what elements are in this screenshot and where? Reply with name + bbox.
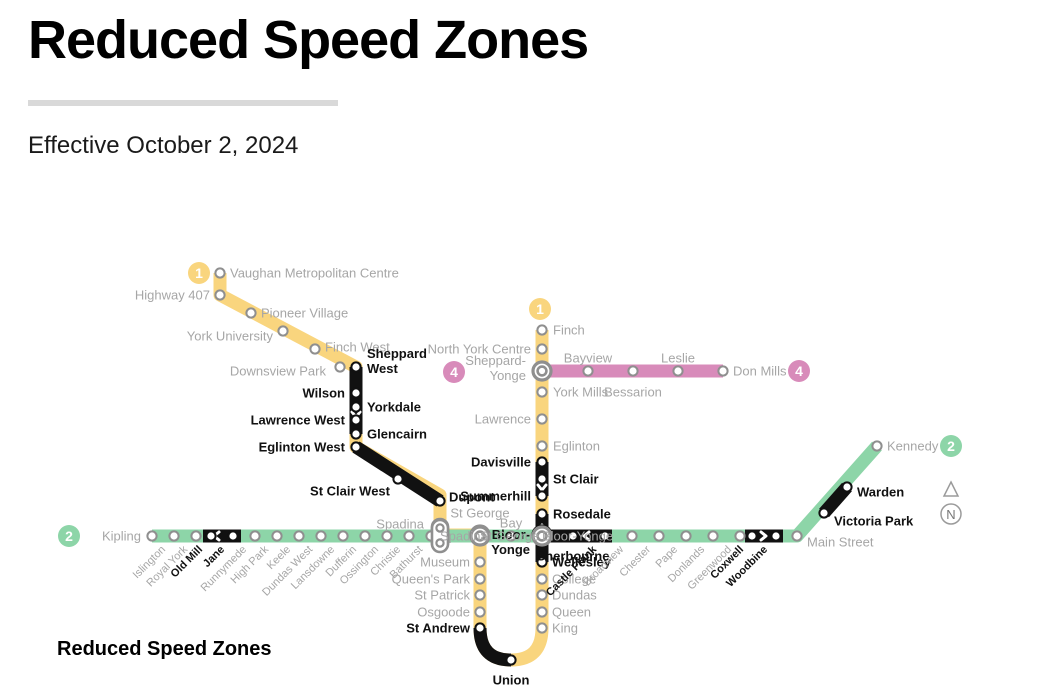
station-marker-eglinton-west[interactable] xyxy=(351,442,360,451)
station-label-sheppard-yonge: Sheppard-Yonge xyxy=(465,353,526,383)
title-divider xyxy=(28,100,338,106)
station-label-summerhill: Summerhill xyxy=(460,489,531,504)
station-label-sheppard-west: SheppardWest xyxy=(367,346,427,376)
station-dot xyxy=(537,623,546,632)
station-dot xyxy=(169,531,178,540)
station-marker-islington[interactable] xyxy=(169,531,178,540)
station-dot xyxy=(537,474,546,483)
station-dot xyxy=(537,387,546,396)
station-marker-jane[interactable] xyxy=(228,531,237,540)
station-label-text: Yonge xyxy=(491,542,530,557)
station-label-text: Kipling xyxy=(102,529,141,544)
station-marker-warden[interactable] xyxy=(842,482,851,491)
station-marker-finch-west[interactable] xyxy=(310,344,319,353)
line-2-bullet-kipling[interactable]: 2 xyxy=(58,525,80,547)
station-label-text: St Clair West xyxy=(310,484,391,499)
station-dot xyxy=(338,531,347,540)
station-marker-college[interactable] xyxy=(537,574,546,583)
station-dot xyxy=(735,531,744,540)
station-marker-lansdowne[interactable] xyxy=(338,531,347,540)
station-label-text: Lawrence xyxy=(475,412,531,427)
station-label-don-mills: Don Mills xyxy=(733,364,787,379)
station-dot xyxy=(872,441,881,450)
station-dot xyxy=(842,482,851,491)
station-dot xyxy=(537,344,546,353)
station-dot xyxy=(335,362,344,371)
direction-chevrons xyxy=(214,412,766,540)
station-dot xyxy=(272,531,281,540)
station-label-text: Lawrence West xyxy=(251,413,346,428)
station-marker-victoria-park[interactable] xyxy=(819,508,828,517)
station-label-union: Union xyxy=(493,673,530,688)
station-label-text: St Clair xyxy=(553,472,599,487)
station-dot xyxy=(506,655,515,664)
station-marker-glencairn[interactable] xyxy=(351,429,360,438)
station-label-st-clair: St Clair xyxy=(553,472,599,487)
station-marker-broadview[interactable] xyxy=(627,531,636,540)
station-label-vaughan-metropolitan-centre: Vaughan Metropolitan Centre xyxy=(230,266,399,281)
station-marker-highway-407[interactable] xyxy=(215,290,224,299)
station-label-text: Wilson xyxy=(303,386,346,401)
station-dot xyxy=(351,362,360,371)
station-label-downsview-park: Downsview Park xyxy=(230,364,327,379)
station-dot xyxy=(627,531,636,540)
station-marker-queen[interactable] xyxy=(537,607,546,616)
station-label-text: Eglinton xyxy=(553,439,600,454)
station-dot xyxy=(537,607,546,616)
station-marker-lawrence[interactable] xyxy=(537,414,546,423)
station-label-bloor-yonge: Bloor-Yonge xyxy=(542,529,613,544)
station-label-york-university: York University xyxy=(187,329,274,344)
station-marker-old-mill[interactable] xyxy=(206,531,215,540)
station-label-text: St George xyxy=(480,529,539,544)
station-label-kennedy: Kennedy xyxy=(887,439,939,454)
station-marker-museum[interactable] xyxy=(475,557,484,566)
station-label-davisville: Davisville xyxy=(471,455,531,470)
station-dot xyxy=(250,531,259,540)
station-label-rosedale: Rosedale xyxy=(553,507,611,522)
station-marker-finch[interactable] xyxy=(537,325,546,334)
station-dot xyxy=(475,574,484,583)
line-1-bullet-vaughan[interactable]: 1 xyxy=(188,262,210,284)
station-labels: Vaughan Metropolitan CentreHighway 407Pi… xyxy=(102,266,939,688)
station-marker-eglinton[interactable] xyxy=(537,441,546,450)
station-label-text: Osgoode xyxy=(417,605,470,620)
station-marker-york-university[interactable] xyxy=(278,326,287,335)
station-label-st-patrick: St Patrick xyxy=(414,588,470,603)
station-marker-don-mills[interactable] xyxy=(718,366,727,375)
station-label-text: Davisville xyxy=(471,455,531,470)
station-marker-queen-s-park[interactable] xyxy=(475,574,484,583)
station-dot xyxy=(360,531,369,540)
line-bullet-number: 2 xyxy=(947,438,955,454)
station-marker-york-mills[interactable] xyxy=(537,387,546,396)
station-dot xyxy=(351,429,360,438)
station-marker-pape[interactable] xyxy=(681,531,690,540)
station-label-text: Pioneer Village xyxy=(261,306,348,321)
station-dot xyxy=(382,531,391,540)
station-label-text: Finch xyxy=(553,323,585,338)
station-marker-st-patrick[interactable] xyxy=(475,590,484,599)
station-label-text: Yorkdale xyxy=(367,400,421,415)
interchange-inner-ring xyxy=(538,367,547,376)
station-dot xyxy=(475,557,484,566)
station-label-text: Warden xyxy=(857,485,904,500)
station-marker-donlands[interactable] xyxy=(708,531,717,540)
station-dot xyxy=(537,574,546,583)
station-label-text: West xyxy=(367,361,398,376)
station-label-text: York University xyxy=(187,329,274,344)
station-dot xyxy=(747,531,756,540)
station-label-st-clair-west: St Clair West xyxy=(310,484,391,499)
station-marker-coxwell[interactable] xyxy=(747,531,756,540)
line-bullet-number: 2 xyxy=(65,528,73,544)
station-marker-osgoode[interactable] xyxy=(475,607,484,616)
station-marker-davisville[interactable] xyxy=(537,457,546,466)
station-marker-chester[interactable] xyxy=(654,531,663,540)
station-label-st-george: St George xyxy=(480,529,539,544)
compass: N xyxy=(941,482,961,524)
station-dot xyxy=(628,366,637,375)
subway-map-svg: Vaughan Metropolitan CentreHighway 407Pi… xyxy=(0,190,1056,694)
station-dot xyxy=(351,415,360,424)
station-label-text: Union xyxy=(493,673,530,688)
station-label-text: Queen xyxy=(552,605,591,620)
station-label-lawrence: Lawrence xyxy=(475,412,531,427)
station-label-text: Summerhill xyxy=(460,489,531,504)
station-marker-christie[interactable] xyxy=(404,531,413,540)
station-marker-ossington[interactable] xyxy=(382,531,391,540)
station-dot xyxy=(708,531,717,540)
station-label-highway-407: Highway 407 xyxy=(135,288,210,303)
station-label-bay: Bay xyxy=(500,516,523,531)
station-label-text: St Andrew xyxy=(406,621,471,636)
station-label-text: Rosedale xyxy=(553,507,611,522)
station-label-leslie: Leslie xyxy=(661,351,695,366)
station-label-text: Victoria Park xyxy=(834,514,914,529)
station-label-yorkdale: Yorkdale xyxy=(367,400,421,415)
station-marker-st-clair[interactable] xyxy=(537,474,546,483)
station-label-warden: Warden xyxy=(857,485,904,500)
station-marker-bessarion[interactable] xyxy=(628,366,637,375)
station-label-text: Bloor-Yonge xyxy=(542,529,613,544)
station-label-text: Sheppard xyxy=(367,346,427,361)
station-dot xyxy=(191,531,200,540)
station-dot xyxy=(228,531,237,540)
station-marker-runnymede[interactable] xyxy=(250,531,259,540)
station-dot xyxy=(537,441,546,450)
station-dot xyxy=(404,531,413,540)
page-title: Reduced Speed Zones xyxy=(28,12,588,69)
station-dot xyxy=(673,366,682,375)
station-label-text: King xyxy=(552,621,578,636)
line-4-bullet-don-mills[interactable]: 4 xyxy=(788,360,810,382)
station-label-glencairn: Glencairn xyxy=(367,427,427,442)
station-label-victoria-park: Victoria Park xyxy=(834,514,914,529)
station-label-text: Bay xyxy=(500,516,523,531)
station-label-text: Main Street xyxy=(807,535,874,550)
station-label-text: Downsview Park xyxy=(230,364,327,379)
station-dot xyxy=(215,268,224,277)
station-label-wilson: Wilson xyxy=(303,386,346,401)
station-dot xyxy=(475,590,484,599)
station-label-pioneer-village: Pioneer Village xyxy=(261,306,348,321)
station-marker-leslie[interactable] xyxy=(673,366,682,375)
station-marker-wilson[interactable] xyxy=(351,388,360,397)
station-marker-keele[interactable] xyxy=(294,531,303,540)
station-label-eglinton-west: Eglinton West xyxy=(259,440,346,455)
station-marker-lawrence-west[interactable] xyxy=(351,415,360,424)
station-label-osgoode: Osgoode xyxy=(417,605,470,620)
station-dot xyxy=(792,531,801,540)
compass-north-letter: N xyxy=(946,507,955,522)
station-dot xyxy=(393,474,402,483)
station-marker-north-york-centre[interactable] xyxy=(537,344,546,353)
station-label-queen: Queen xyxy=(552,605,591,620)
station-label-lawrence-west: Lawrence West xyxy=(251,413,346,428)
station-label-text: York Mills xyxy=(553,385,609,400)
station-marker-dufferin[interactable] xyxy=(360,531,369,540)
station-label-text: Vaughan Metropolitan Centre xyxy=(230,266,399,281)
station-label-finch: Finch xyxy=(553,323,585,338)
station-label-main-street: Main Street xyxy=(807,535,874,550)
station-marker-main-street[interactable] xyxy=(792,531,801,540)
subway-map: Vaughan Metropolitan CentreHighway 407Pi… xyxy=(0,190,1056,694)
station-marker-union[interactable] xyxy=(506,655,515,664)
station-label-king: King xyxy=(552,621,578,636)
station-dot xyxy=(351,442,360,451)
station-label-eglinton: Eglinton xyxy=(553,439,600,454)
station-label-text: Yonge xyxy=(490,368,526,383)
station-dot xyxy=(351,402,360,411)
station-marker-st-andrew[interactable] xyxy=(475,623,484,632)
station-label-bayview: Bayview xyxy=(564,351,613,366)
station-label-st-andrew: St Andrew xyxy=(406,621,471,636)
station-dot xyxy=(537,509,546,518)
station-dot xyxy=(537,457,546,466)
station-label-text: Bessarion xyxy=(604,385,662,400)
station-marker-royal-york[interactable] xyxy=(191,531,200,540)
station-label-york-mills: York Mills xyxy=(553,385,609,400)
north-arrow-icon xyxy=(944,482,958,496)
station-label-text: Eglinton West xyxy=(259,440,346,455)
station-label-text: Don Mills xyxy=(733,364,787,379)
station-marker-dundas-west[interactable] xyxy=(316,531,325,540)
station-marker-downsview-park[interactable] xyxy=(335,362,344,371)
station-dot xyxy=(435,496,444,505)
station-label-bessarion: Bessarion xyxy=(604,385,662,400)
station-label-text: Glencairn xyxy=(367,427,427,442)
line-1-bullet-finch[interactable]: 1 xyxy=(529,298,551,320)
station-marker-yorkdale[interactable] xyxy=(351,402,360,411)
station-label-text: Highway 407 xyxy=(135,288,210,303)
station-dot xyxy=(771,531,780,540)
station-dot xyxy=(537,414,546,423)
station-marker-vaughan-metropolitan-centre[interactable] xyxy=(215,268,224,277)
station-marker-kipling[interactable] xyxy=(147,531,156,540)
station-label-text: Spadina xyxy=(376,517,424,532)
line-bullet-number: 1 xyxy=(536,301,544,317)
station-label-text: North York Centre xyxy=(428,342,531,357)
station-dot xyxy=(147,531,156,540)
station-label-text: St Patrick xyxy=(414,588,470,603)
station-dot xyxy=(316,531,325,540)
station-dot xyxy=(537,325,546,334)
station-marker-sheppard-yonge[interactable] xyxy=(533,362,551,380)
station-dot xyxy=(537,491,546,500)
line-2-bullet-kennedy[interactable]: 2 xyxy=(940,435,962,457)
station-marker-woodbine[interactable] xyxy=(771,531,780,540)
station-marker-high-park[interactable] xyxy=(272,531,281,540)
station-dot xyxy=(583,366,592,375)
line-bullet-number: 1 xyxy=(195,265,203,281)
station-dot xyxy=(310,344,319,353)
station-label-museum: Museum xyxy=(420,555,470,570)
station-marker-summerhill[interactable] xyxy=(537,491,546,500)
station-dot xyxy=(294,531,303,540)
station-label-text: Kennedy xyxy=(887,439,939,454)
station-label-text: Bayview xyxy=(564,351,613,366)
station-label-spadina: Spadina xyxy=(376,517,424,532)
station-marker-rosedale[interactable] xyxy=(537,509,546,518)
station-label-text: Leslie xyxy=(661,351,695,366)
station-dot xyxy=(819,508,828,517)
station-label-north-york-centre: North York Centre xyxy=(428,342,531,357)
line-bullet-number: 4 xyxy=(795,363,803,379)
station-dot xyxy=(351,388,360,397)
station-dot xyxy=(681,531,690,540)
station-marker-king[interactable] xyxy=(537,623,546,632)
station-marker-st-clair-west[interactable] xyxy=(393,474,402,483)
page-subtitle: Effective October 2, 2024 xyxy=(28,132,298,160)
station-dot xyxy=(215,290,224,299)
station-marker-dupont[interactable] xyxy=(435,496,444,505)
station-dot xyxy=(246,308,255,317)
line-bullet-number: 4 xyxy=(450,364,458,380)
station-dot xyxy=(654,531,663,540)
station-marker-pioneer-village[interactable] xyxy=(246,308,255,317)
station-marker-greenwood[interactable] xyxy=(735,531,744,540)
station-dot xyxy=(278,326,287,335)
station-label-text: Museum xyxy=(420,555,470,570)
station-dot xyxy=(718,366,727,375)
station-dot xyxy=(206,531,215,540)
station-label-kipling: Kipling xyxy=(102,529,141,544)
line-4-bullet-sheppard-yonge[interactable]: 4 xyxy=(443,361,465,383)
station-dot xyxy=(475,623,484,632)
station-marker-sheppard-west[interactable] xyxy=(351,362,360,371)
station-marker-kennedy[interactable] xyxy=(872,441,881,450)
station-marker-bayview[interactable] xyxy=(583,366,592,375)
station-dot xyxy=(475,607,484,616)
